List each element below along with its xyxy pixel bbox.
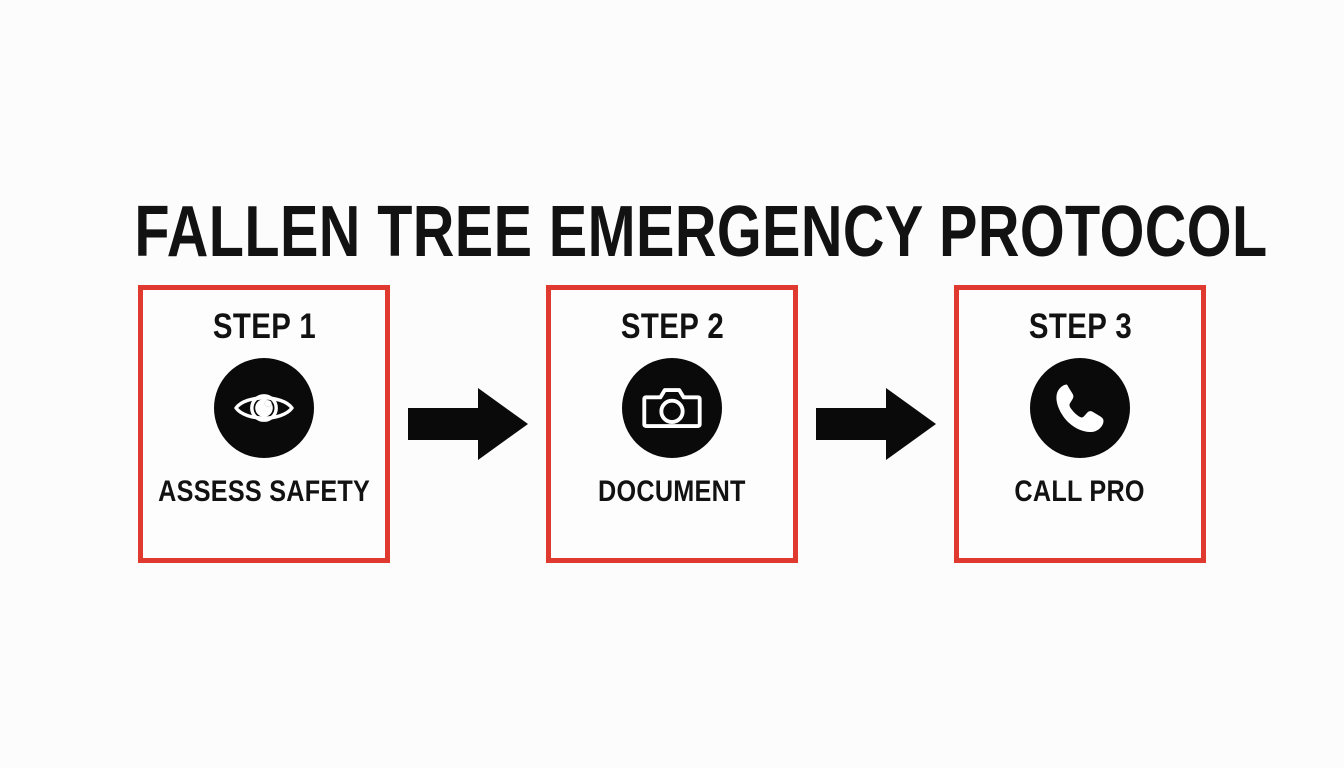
step-label-3: CALL PRO [1015, 477, 1145, 507]
step-flow: STEP 1 ASSESS SAF [138, 285, 1206, 563]
step-card-3[interactable]: STEP 3 CALL PRO [954, 285, 1206, 563]
step-label-1: ASSESS SAFETY [158, 477, 370, 507]
protocol-poster: FALLEN TREE EMERGENCY PROTOCOL STEP 1 [0, 0, 1344, 768]
step-kicker-3: STEP 3 [1028, 309, 1131, 344]
eye-icon [232, 376, 296, 440]
step-icon-badge-3 [1030, 358, 1130, 458]
flow-connector-2 [814, 385, 938, 463]
step-kicker-2: STEP 2 [620, 309, 723, 344]
step-icon-badge-1 [214, 358, 314, 458]
step-kicker-1: STEP 1 [212, 309, 315, 344]
arrow-right-icon [408, 386, 528, 462]
camera-icon [641, 377, 703, 439]
page-title: FALLEN TREE EMERGENCY PROTOCOL [134, 196, 1209, 268]
flow-connector-1 [406, 385, 530, 463]
step-icon-badge-2 [622, 358, 722, 458]
arrow-right-icon [816, 386, 936, 462]
phone-icon [1052, 380, 1108, 436]
step-card-1[interactable]: STEP 1 ASSESS SAF [138, 285, 390, 563]
step-card-2[interactable]: STEP 2 DOCUMENT [546, 285, 798, 563]
step-label-2: DOCUMENT [598, 477, 746, 507]
